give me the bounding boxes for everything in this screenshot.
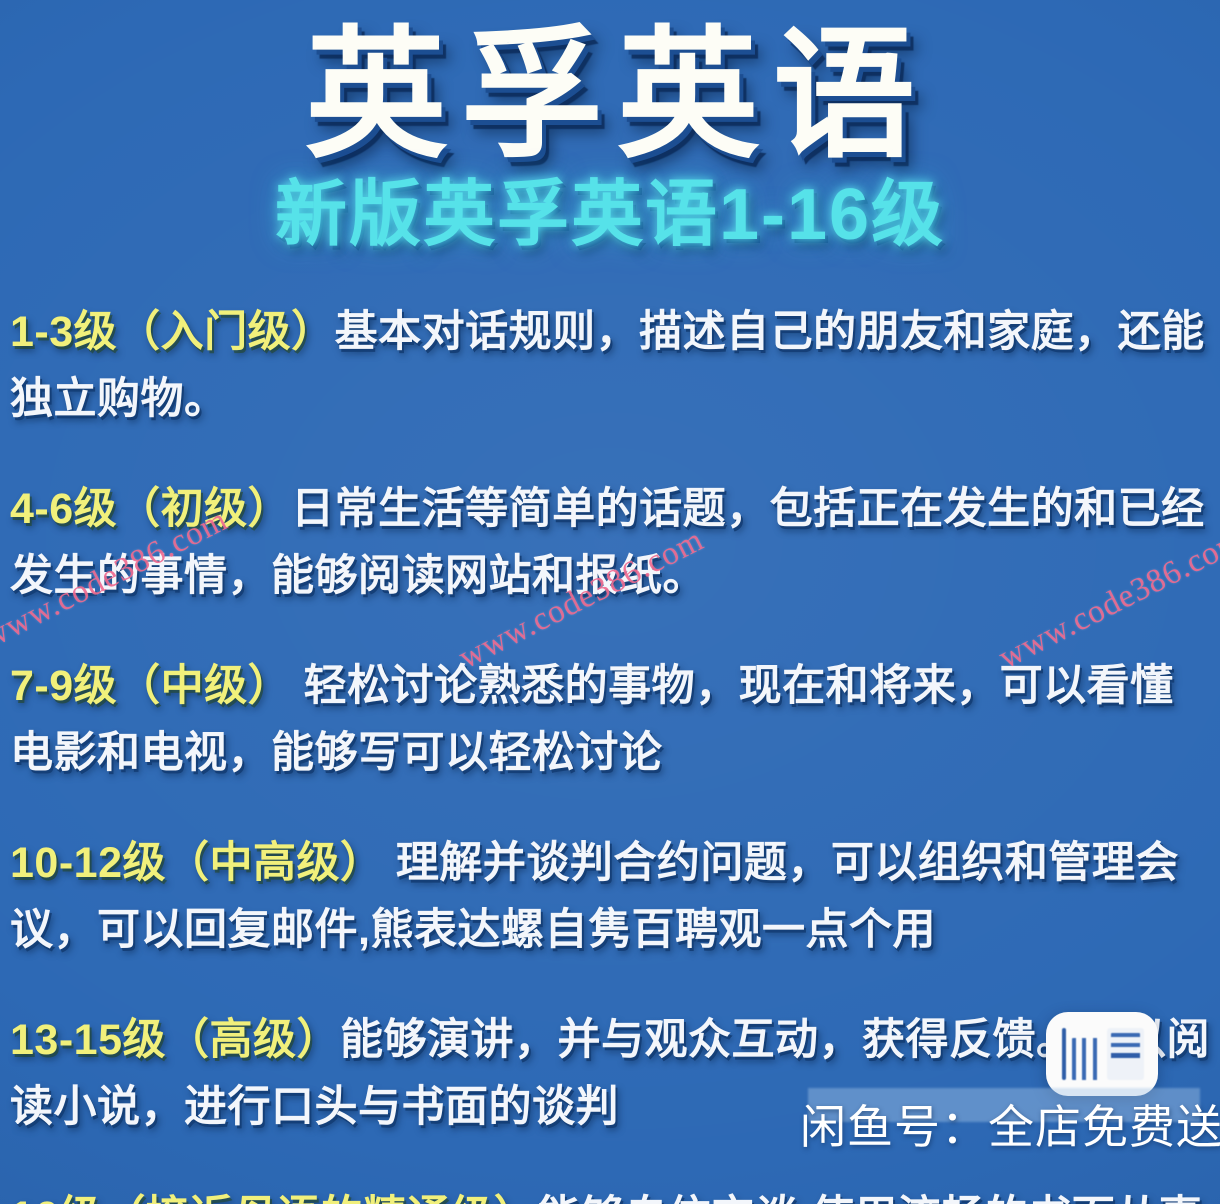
level-tag: 7-9级（中级） xyxy=(10,662,291,710)
level-item: 16级（接近母语的精通级）能够自信交谈 使用流畅的书面从事商业工作 可以流利的用… xyxy=(10,1184,1212,1204)
page-subtitle: 新版英孚英语1-16级 xyxy=(0,174,1220,257)
level-item: 7-9级（中级） 轻松讨论熟悉的事物，现在和将来，可以看懂电影和电视，能够写可以… xyxy=(10,653,1212,787)
logo-right-glyph xyxy=(1107,1026,1147,1082)
xianyu-app-logo-icon xyxy=(1046,1012,1158,1096)
poster-header: 英孚英语 新版英孚英语1-16级 xyxy=(0,0,1220,256)
level-item: 4-6级（初级）日常生活等简单的话题，包括正在发生的和已经发生的事情，能够阅读网… xyxy=(10,476,1212,610)
page-title: 英孚英语 xyxy=(0,12,1220,180)
brand-caption-block: 闲鱼号：全店免费送 xyxy=(800,1098,1200,1160)
logo-left-glyph xyxy=(1060,1026,1100,1082)
level-tag: 4-6级（初级） xyxy=(10,485,291,533)
level-list: 1-3级（入门级）基本对话规则，描述自己的朋友和家庭，还能独立购物。 4-6级（… xyxy=(0,299,1220,1204)
logo-mark xyxy=(1060,1026,1146,1082)
poster-root: 英孚英语 新版英孚英语1-16级 1-3级（入门级）基本对话规则，描述自己的朋友… xyxy=(0,0,1220,1204)
level-tag: 1-3级（入门级） xyxy=(10,308,335,356)
level-tag: 13-15级（高级） xyxy=(10,1016,340,1064)
level-item: 1-3级（入门级）基本对话规则，描述自己的朋友和家庭，还能独立购物。 xyxy=(10,299,1212,433)
brand-caption: 闲鱼号：全店免费送 xyxy=(800,1098,1220,1156)
level-tag: 10-12级（中高级） xyxy=(10,839,383,887)
level-item: 10-12级（中高级） 理解并谈判合约问题，可以组织和管理会议，可以回复邮件,熊… xyxy=(10,830,1212,964)
level-tag: 16级（接近母语的精通级） xyxy=(10,1193,537,1204)
